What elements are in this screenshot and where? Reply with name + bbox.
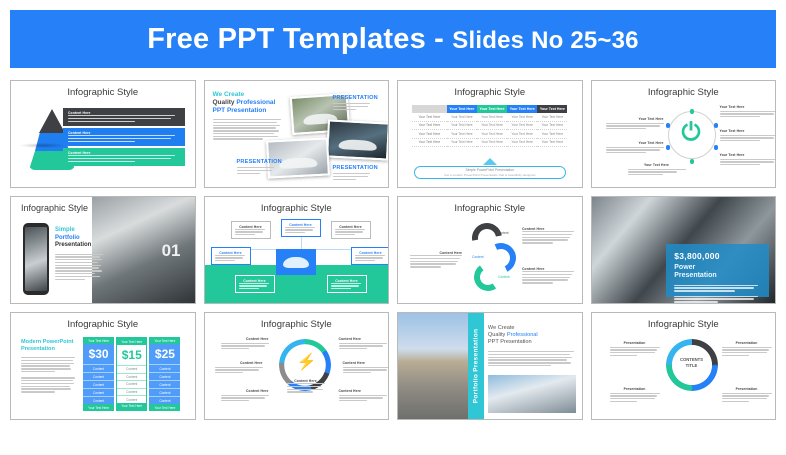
slide-10-item-5-text (343, 367, 390, 374)
pricing-cell: Content (117, 388, 146, 396)
slide-4-dot-right-upper (714, 123, 719, 128)
slide-8-body-text-1 (674, 285, 761, 292)
slide-6-box-mid-left-text (215, 255, 247, 262)
lightning-bolt-icon: ⚡ (297, 355, 317, 371)
table-header-cell-2: Your Text Here (477, 105, 507, 113)
slide-6-box-lower-left-text (239, 283, 271, 290)
slide-6-box-lower-left: Content Here (235, 275, 275, 293)
table-row-label: Your Text Here (412, 113, 447, 122)
slide-10-item-4-text (339, 343, 387, 350)
table-cell: Your Text Here (537, 139, 567, 148)
slide-4-item-5: Your Text Here (720, 129, 777, 141)
slide-2-headline-line1: We Create (213, 91, 285, 99)
pricing-cell: Content (117, 365, 146, 373)
slide-5-title: Infographic Style (21, 203, 88, 213)
cone-row-3: Content Here (63, 148, 185, 166)
slide-6-box-upper-left-heading: Content Here (235, 225, 267, 229)
slide-10-item-1: Content Here (221, 337, 269, 349)
slide-7-block-2: Content Here (522, 227, 574, 244)
slide-10-item-2-heading: Content Here (215, 361, 263, 365)
slide-4-item-6-text (720, 159, 777, 166)
slide-thumbnail-1[interactable]: Infographic Style Content Here Content H… (10, 80, 196, 188)
car-silhouette-3 (279, 157, 317, 168)
slide-10-item-3-heading: Content Here (221, 389, 269, 393)
table-row: Your Text Here Your Text Here Your Text … (412, 139, 568, 148)
pricing-column-1[interactable]: Your Text Here $30 Content Content Conte… (83, 337, 114, 411)
slide-12-item-2-heading: Presentation (610, 387, 660, 391)
slide-7-arc-label-1: Content (497, 231, 509, 235)
slide-6-box-upper-right: Content Here (331, 221, 371, 239)
pricing-cell: Content (117, 395, 146, 403)
pricing-cell: Content (83, 388, 114, 396)
slide-thumbnail-4[interactable]: Infographic Style ⏻ Your Text Here Your … (591, 80, 777, 188)
slide-10-item-6-heading: Content Here (339, 389, 387, 393)
slide-6-box-lower-right-text (331, 283, 363, 290)
slide-6-box-top-heading: Content Here (285, 223, 317, 227)
slide-2-label-2: PRESENTATION (237, 159, 282, 165)
pricing-column-1-bottom: Your Text Here (83, 404, 114, 411)
slide-12-item-4-text (722, 393, 772, 403)
slide-8-info-panel: $3,800,000 Power Presentation (666, 244, 769, 297)
slide-2-label-3: PRESENTATION (333, 165, 378, 171)
slide-7-block-1-text (410, 255, 462, 268)
slide-4-item-2-heading: Your Text Here (606, 141, 664, 145)
slide-9-side-heading-2: Presentation (21, 346, 55, 352)
pricing-cell: Content (83, 364, 114, 372)
table-cell: Your Text Here (447, 130, 477, 139)
slide-4-item-4: Your Text Here (720, 105, 777, 117)
car-silhouette-2 (338, 139, 376, 150)
slide-5-headline-2: Portfolio (55, 235, 105, 243)
table-callout-line-2: Get a modern PowerPoint Presentation tha… (444, 173, 535, 177)
car-icon (283, 257, 309, 268)
slide-11-band-label: Portfolio Presentation (472, 329, 479, 404)
table-callout-line-1: Simple PowerPoint Presentation (465, 168, 514, 172)
pricing-cell: Content (83, 372, 114, 380)
slide-5-photo-number: 01 (162, 241, 181, 261)
slide-10-center-label-block: Content Here (287, 379, 325, 393)
slide-thumbnail-8[interactable]: $3,800,000 Power Presentation (591, 196, 777, 304)
slide-3-title: Infographic Style (398, 87, 582, 98)
slide-thumbnail-7[interactable]: Infographic Style Content Content Conten… (397, 196, 583, 304)
table-cell: Your Text Here (507, 113, 537, 122)
slide-4-item-1-heading: Your Text Here (606, 117, 664, 121)
slide-4-dot-left-upper (666, 123, 671, 128)
slide-6-box-upper-right-text (335, 229, 367, 236)
table-header-cell-4: Your Text Here (537, 105, 567, 113)
slide-9-title: Infographic Style (11, 319, 195, 330)
slide-thumbnail-grid: Infographic Style Content Here Content H… (10, 80, 776, 420)
slide-6-box-lower-right-heading: Content Here (331, 279, 363, 283)
slide-6-box-top-text (285, 227, 317, 234)
table-cell: Your Text Here (537, 130, 567, 139)
slide-12-item-3: Presentation (722, 341, 772, 356)
pricing-cell: Content (149, 396, 180, 404)
slide-10-item-2-text (215, 367, 263, 374)
cone-layer-dark (39, 109, 65, 133)
slide-7-block-3-text (522, 271, 574, 284)
pricing-column-2-bottom: Your Text Here (117, 403, 146, 410)
slide-2-label-1: PRESENTATION (333, 95, 378, 101)
pricing-cell: Content (117, 373, 146, 381)
slide-10-item-3-text (221, 395, 269, 402)
slide-2-label-2-text (237, 167, 279, 174)
slide-7-block-1: Content Here (410, 251, 462, 268)
slide-10-item-6-text (339, 395, 387, 402)
slide-4-item-3-heading: Your Text Here (628, 163, 686, 167)
pricing-cell: Content (149, 388, 180, 396)
slide-4-item-5-text (720, 135, 777, 142)
slide-11-headline-line1: We Create (488, 325, 576, 332)
table-cell: Your Text Here (477, 139, 507, 148)
pricing-cell: Content (149, 372, 180, 380)
slide-8-body-text-2 (674, 296, 761, 303)
slide-2-headline-line3: PPT Presentation (213, 107, 285, 115)
slide-4-item-4-heading: Your Text Here (720, 105, 777, 109)
slide-10-item-1-text (221, 343, 269, 350)
slide-6-box-lower-left-heading: Content Here (239, 279, 271, 283)
slide-6-box-mid-right-text (355, 255, 387, 262)
slide-4-dot-bottom (690, 159, 695, 164)
slide-10-item-1-heading: Content Here (221, 337, 269, 341)
slide-12-center-line-2: TITLE (686, 363, 698, 368)
pricing-cell: Content (117, 380, 146, 388)
table-row-label: Your Text Here (412, 139, 447, 148)
table-row: Your Text Here Your Text Here Your Text … (412, 130, 568, 139)
slide-11-car-photo (488, 375, 576, 413)
slide-5-text-block: Simple Portfolio Presentation (55, 227, 105, 280)
slide-thumbnail-2[interactable]: We Create Quality Professional PPT Prese… (204, 80, 390, 188)
pricing-cell: Content (149, 364, 180, 372)
slide-4-item-6: Your Text Here (720, 153, 777, 165)
table-cell: Your Text Here (447, 139, 477, 148)
slide-9-side-heading: Modern PowerPoint Presentation (21, 339, 77, 353)
slide-7-block-3: Content Here (522, 267, 574, 284)
slide-12-center-title: CONTENTS TITLE (672, 357, 712, 368)
slide-11-body-text (488, 351, 576, 366)
slide-9-body-text-1 (21, 357, 77, 372)
slide-6-box-mid-left-heading: Content Here (215, 251, 247, 255)
slide-9-side-heading-1: Modern PowerPoint (21, 339, 74, 345)
slide-10-item-5: Content Here (343, 361, 390, 373)
slide-gallery-page: Free PPT Templates - Slides No 25~36 Inf… (0, 10, 786, 455)
page-title: Free PPT Templates - Slides No 25~36 (147, 23, 638, 56)
slide-6-box-top: Content Here (281, 219, 321, 237)
pricing-column-1-top: Your Text Here (83, 337, 114, 344)
table-header-row: Your Text Here Your Text Here Your Text … (412, 105, 568, 113)
slide-5-photo: 01 (92, 197, 195, 303)
slide-12-item-1-text (610, 347, 660, 357)
slide-12-item-3-text (722, 347, 772, 357)
slide-11-text-block: We Create Quality Professional PPT Prese… (488, 325, 576, 366)
slide-12-item-4-heading: Presentation (722, 387, 772, 391)
table-header-cell-3: Your Text Here (507, 105, 537, 113)
slide-9-side-text: Modern PowerPoint Presentation (21, 339, 77, 393)
slide-2-label-3-text (333, 173, 375, 180)
slide-4-item-5-heading: Your Text Here (720, 129, 777, 133)
slide-thumbnail-3[interactable]: Infographic Style Your Text Here Your Te… (397, 80, 583, 188)
table-cell: Your Text Here (447, 113, 477, 122)
slide-6-center-box (276, 249, 316, 275)
table-cell: Your Text Here (477, 113, 507, 122)
header-banner: Free PPT Templates - Slides No 25~36 (10, 10, 776, 68)
slide-12-item-2: Presentation (610, 387, 660, 402)
banner-title-main: Free PPT Templates (147, 23, 426, 55)
slide-6-box-upper-left: Content Here (231, 221, 271, 239)
slide-10-item-4: Content Here (339, 337, 387, 349)
table-cell: Your Text Here (507, 139, 537, 148)
plug-icon: ⏻ (682, 121, 701, 145)
slide-4-item-4-text (720, 111, 777, 118)
slide-6-box-mid-left: Content Here (211, 247, 251, 265)
phone-mockup (23, 223, 49, 295)
slide-thumbnail-10[interactable]: Infographic Style ⚡ Content Here Content… (204, 312, 390, 420)
pricing-column-3-bottom: Your Text Here (149, 404, 180, 411)
table-cell: Your Text Here (477, 122, 507, 131)
banner-title-separator: - (426, 23, 452, 55)
arrow-up-icon (483, 158, 497, 165)
table-cell: Your Text Here (507, 122, 537, 131)
slide-6-box-mid-right: Content Here (351, 247, 390, 265)
pricing-column-3-amount: $25 (149, 344, 180, 364)
cone-row-2-text (68, 135, 180, 142)
slide-thumbnail-12[interactable]: Infographic Style CONTENTS TITLE Present… (591, 312, 777, 420)
slide-8-price: $3,800,000 (674, 251, 761, 261)
slide-4-dot-top (690, 109, 695, 114)
pricing-column-2-amount: $15 (117, 345, 146, 365)
slide-9-body-text-2 (21, 377, 77, 392)
slide-4-item-2: Your Text Here (606, 141, 664, 153)
slide-4-item-3-text (628, 169, 686, 176)
pricing-cell: Content (83, 396, 114, 404)
slide-4-item-1-text (606, 123, 664, 130)
table-callout: Simple PowerPoint Presentation Get a mod… (414, 166, 566, 179)
slide-12-item-1: Presentation (610, 341, 660, 356)
pricing-cell: Content (83, 380, 114, 388)
slide-4-item-1: Your Text Here (606, 117, 664, 129)
slide-5-body-text (55, 254, 105, 280)
cone-row-1: Content Here (63, 108, 185, 126)
comparison-table: Your Text Here Your Text Here Your Text … (412, 105, 568, 147)
slide-12-item-1-heading: Presentation (610, 341, 660, 345)
slide-10-item-2: Content Here (215, 361, 263, 373)
cone-shadow (19, 143, 67, 148)
pricing-cell: Content (149, 380, 180, 388)
slide-thumbnail-9[interactable]: Infographic Style Modern PowerPoint Pres… (10, 312, 196, 420)
slide-11-headline-line2: Quality Professional (488, 332, 576, 339)
pricing-column-2[interactable]: Your Text Here $15 Content Content Conte… (116, 337, 147, 411)
slide-10-item-5-heading: Content Here (343, 361, 390, 365)
slide-10-item-4-heading: Content Here (339, 337, 387, 341)
slide-1-title: Infographic Style (11, 87, 195, 98)
table-row: Your Text Here Your Text Here Your Text … (412, 122, 568, 131)
slide-6-box-mid-right-heading: Content Here (355, 251, 387, 255)
slide-8-headline-1: Power (674, 264, 761, 273)
slide-7-title: Infographic Style (398, 203, 582, 214)
slide-7-arc-label-2: Content (472, 255, 484, 259)
slide-4-item-2-text (606, 147, 664, 154)
pricing-table: Your Text Here $30 Content Content Conte… (83, 337, 181, 411)
table-row: Your Text Here Your Text Here Your Text … (412, 113, 568, 122)
pricing-column-3[interactable]: Your Text Here $25 Content Content Conte… (149, 337, 180, 411)
cone-row-3-text (68, 155, 180, 162)
slide-12-item-2-text (610, 393, 660, 403)
slide-6-title: Infographic Style (205, 203, 389, 214)
slide-6-box-upper-right-heading: Content Here (335, 225, 367, 229)
slide-10-item-3: Content Here (221, 389, 269, 401)
table-row-label: Your Text Here (412, 122, 447, 131)
slide-6-box-lower-right: Content Here (327, 275, 367, 293)
slide-thumbnail-5[interactable]: 01 Infographic Style Simple Portfolio Pr… (10, 196, 196, 304)
slide-5-headline-1: Simple (55, 227, 105, 235)
slide-thumbnail-6[interactable]: Infographic Style Content Here Content H… (204, 196, 390, 304)
slide-12-center-line-1: CONTENTS (680, 357, 703, 362)
slide-2-body-text (213, 119, 285, 140)
cone-row-2: Content Here (63, 128, 185, 146)
slide-11-road-photo (398, 313, 468, 419)
table-cell: Your Text Here (537, 113, 567, 122)
banner-title-sub: Slides No 25~36 (452, 27, 638, 54)
slide-4-dot-right-lower (714, 145, 719, 150)
slide-2-headline-line2: Quality Professional (213, 99, 285, 107)
slide-8-headline-2: Presentation (674, 272, 761, 281)
slide-10-title: Infographic Style (205, 319, 389, 330)
slide-10-center-text (287, 383, 325, 393)
slide-5-headline-3: Presentation (55, 242, 105, 250)
table-cell: Your Text Here (507, 130, 537, 139)
slide-4-title: Infographic Style (592, 87, 776, 98)
slide-12-item-4: Presentation (722, 387, 772, 402)
slide-thumbnail-11[interactable]: Portfolio Presentation We Create Quality… (397, 312, 583, 420)
table-header-cell-1: Your Text Here (447, 105, 477, 113)
cone-row-1-text (68, 115, 180, 122)
table-cell: Your Text Here (447, 122, 477, 131)
slide-11-headline-line3: PPT Presentation (488, 339, 576, 346)
table-cell: Your Text Here (477, 130, 507, 139)
slide-2-label-1-text (333, 103, 375, 110)
slide-11-vertical-band: Portfolio Presentation (468, 313, 485, 419)
slide-10-item-6: Content Here (339, 389, 387, 401)
slide-4-item-6-heading: Your Text Here (720, 153, 777, 157)
slide-7-arc-label-3: Content (498, 275, 510, 279)
slide-12-item-3-heading: Presentation (722, 341, 772, 345)
slide-12-title: Infographic Style (592, 319, 776, 330)
pricing-column-1-amount: $30 (83, 344, 114, 364)
pricing-column-2-top: Your Text Here (117, 338, 146, 345)
phone-screen (25, 227, 47, 291)
slide-6-box-upper-left-text (235, 229, 267, 236)
slide-4-item-3: Your Text Here (628, 163, 686, 175)
slide-2-photo-2 (326, 119, 389, 160)
slide-2-headline: We Create Quality Professional PPT Prese… (213, 91, 285, 140)
table-cell: Your Text Here (537, 122, 567, 131)
pricing-column-3-top: Your Text Here (149, 337, 180, 344)
table-row-label: Your Text Here (412, 130, 447, 139)
slide-7-block-2-text (522, 231, 574, 244)
table-header-cell-0 (412, 105, 447, 113)
slide-4-dot-left-lower (666, 145, 671, 150)
